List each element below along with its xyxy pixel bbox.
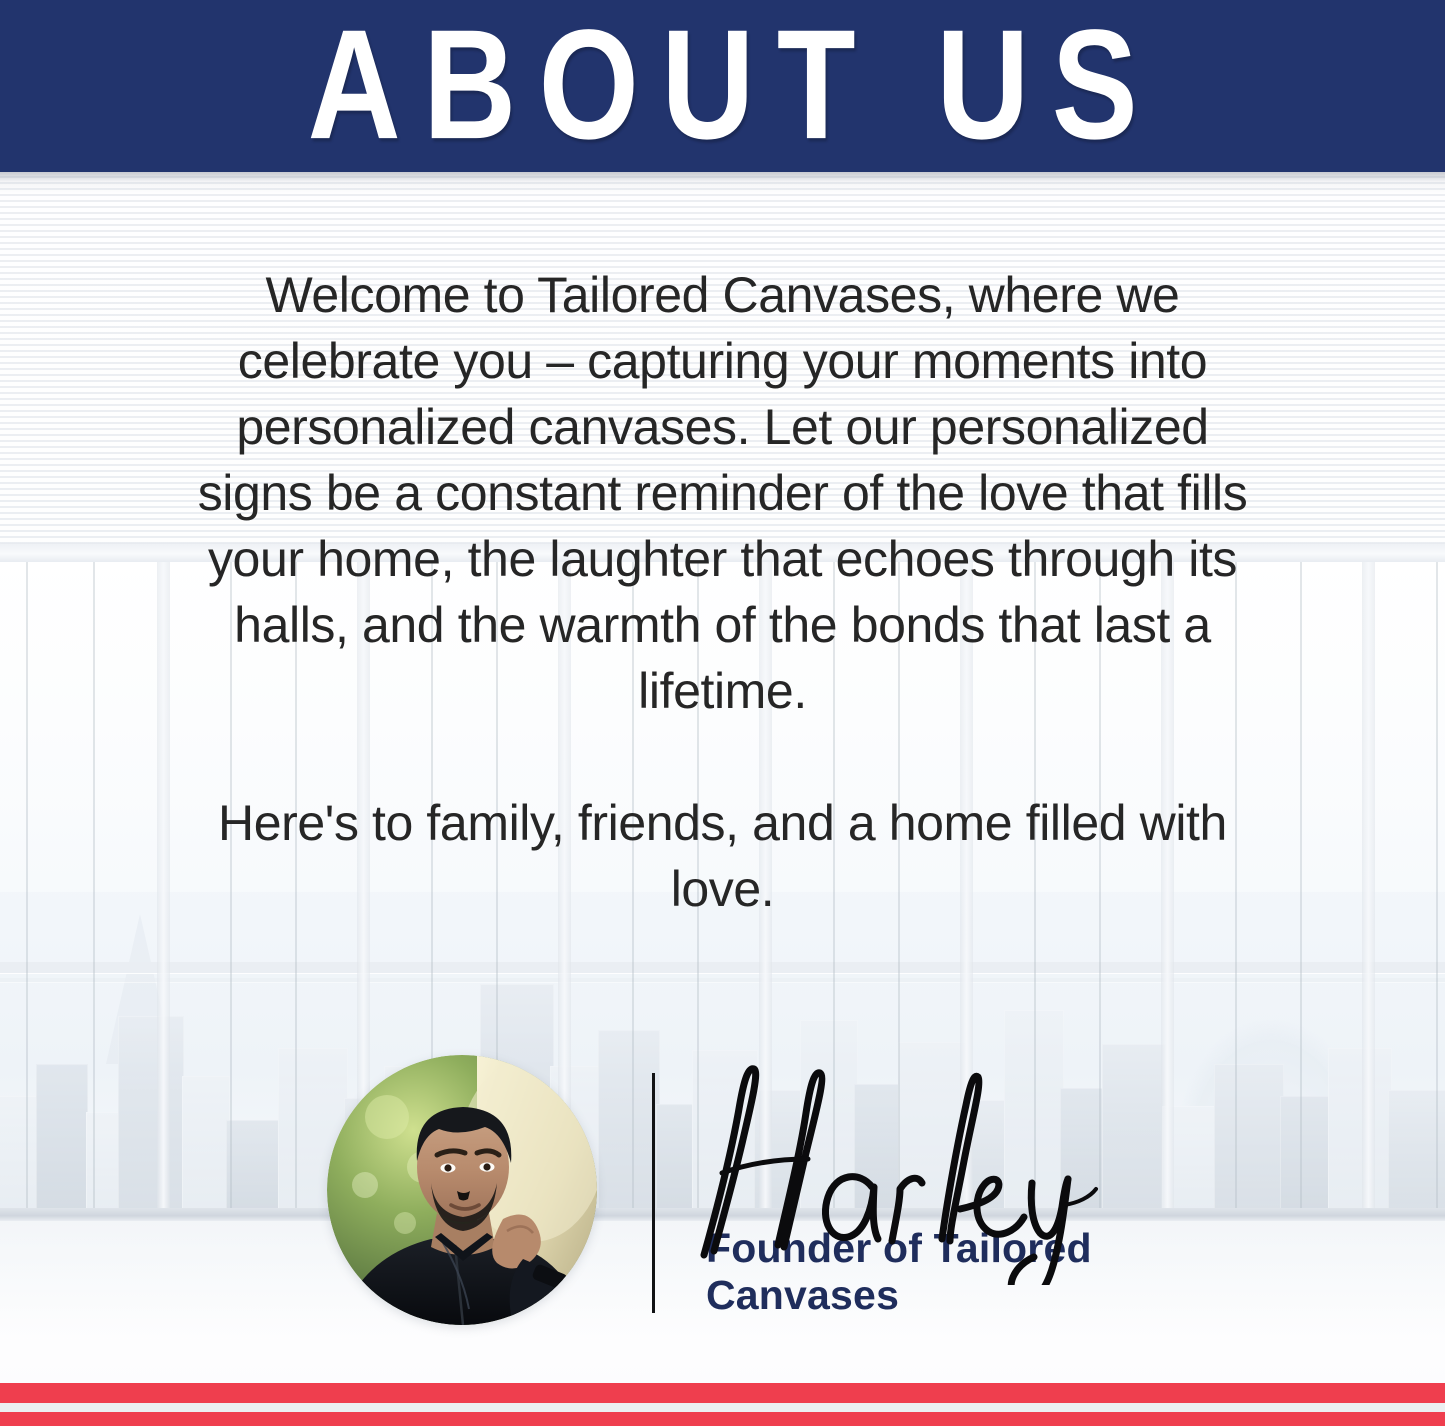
footer-stripe-bottom (0, 1412, 1445, 1426)
window-mullion (1300, 562, 1302, 1214)
footer-stripe-gap (0, 1403, 1445, 1412)
window-sill (0, 1208, 1445, 1221)
about-paragraph-2: Here's to family, friends, and a home fi… (178, 790, 1268, 922)
signature-divider (652, 1073, 655, 1313)
window-mullion (1362, 562, 1375, 1214)
header-shadow (0, 172, 1445, 194)
about-copy: Welcome to Tailored Canvases, where we c… (178, 262, 1268, 922)
signature-role-line-2: Canvases (706, 1272, 1226, 1319)
window-handrail-lower (0, 978, 1445, 982)
footer-stripe-top (0, 1383, 1445, 1403)
window-mullion (26, 562, 28, 1214)
window-handrail (0, 962, 1445, 973)
avatar (327, 1055, 597, 1325)
window-mullion (1436, 562, 1438, 1214)
signature-role: Founder of Tailored Canvases (706, 1225, 1226, 1319)
signature-role-line-1: Founder of Tailored (706, 1225, 1226, 1272)
page-title: ABOUT US (285, 6, 1160, 162)
about-us-page: ABOUT US (0, 0, 1445, 1426)
window-mullion (93, 562, 95, 1214)
paragraph-spacer (178, 724, 1268, 790)
window-mullion (157, 562, 170, 1214)
about-paragraph-1: Welcome to Tailored Canvases, where we c… (178, 262, 1268, 724)
header-banner: ABOUT US (0, 0, 1445, 172)
